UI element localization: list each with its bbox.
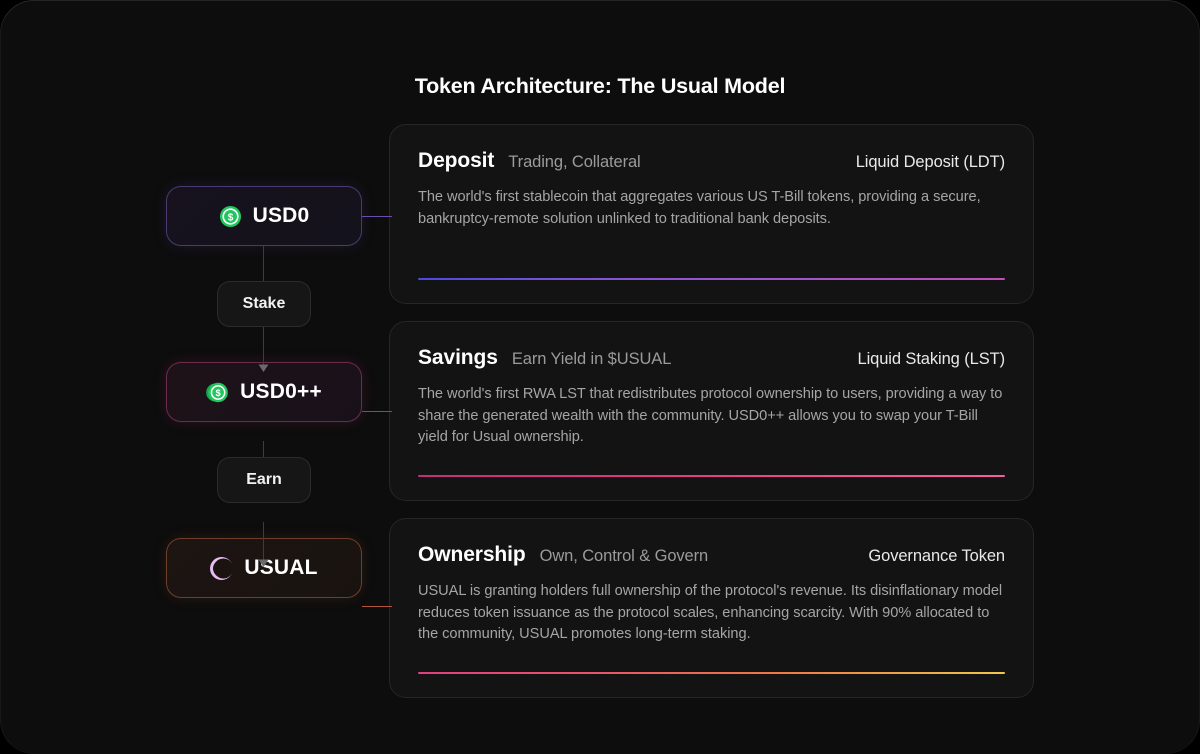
card-tag: Liquid Staking (LST) [858, 350, 1006, 369]
dollar-coin-icon: $ [219, 205, 242, 228]
usual-ring-icon [210, 557, 233, 580]
token-node-usd0[interactable]: $ USD0 [166, 186, 362, 246]
card-accent-bar [418, 475, 1005, 477]
token-node-label: USD0 [253, 204, 310, 228]
connector-usual-ownership-card [362, 606, 392, 607]
arrow-down-icon-2 [258, 559, 269, 567]
card-body: The world's first RWA LST that redistrib… [390, 370, 1033, 449]
card-header: Ownership Own, Control & Govern Governan… [390, 519, 1033, 567]
card-savings[interactable]: Savings Earn Yield in $USUAL Liquid Stak… [389, 321, 1034, 501]
connector-usd0-stake [263, 246, 264, 284]
flow-step-stake[interactable]: Stake [217, 281, 311, 327]
connector-usd0pp-savings-card [362, 411, 392, 412]
connector-earn-usual [263, 522, 264, 560]
card-tag: Governance Token [868, 547, 1005, 566]
connector-usd0-deposit-card [362, 216, 392, 217]
card-deposit[interactable]: Deposit Trading, Collateral Liquid Depos… [389, 124, 1034, 304]
page-title: Token Architecture: The Usual Model [0, 74, 1200, 99]
card-header: Savings Earn Yield in $USUAL Liquid Stak… [390, 322, 1033, 370]
token-node-label: USD0++ [240, 380, 322, 404]
card-accent-bar [418, 672, 1005, 674]
svg-text:$: $ [227, 212, 233, 223]
connector-stake-usd0pp [263, 327, 264, 365]
diagram-frame: Token Architecture: The Usual Model $ US… [0, 0, 1200, 754]
card-subtitle: Earn Yield in $USUAL [512, 350, 671, 369]
card-title: Savings [418, 346, 498, 370]
stacked-dollar-coin-icon: $ [206, 381, 229, 404]
arrow-down-icon-1 [258, 364, 269, 372]
card-body: USUAL is granting holders full ownership… [390, 567, 1033, 646]
flow-step-label: Earn [246, 471, 282, 489]
token-node-usual[interactable]: USUAL [166, 538, 362, 598]
flow-step-earn[interactable]: Earn [217, 457, 311, 503]
svg-text:$: $ [216, 387, 222, 398]
card-subtitle: Own, Control & Govern [540, 547, 708, 566]
card-header: Deposit Trading, Collateral Liquid Depos… [390, 125, 1033, 173]
card-body: The world's first stablecoin that aggreg… [390, 173, 1033, 230]
token-node-label: USUAL [244, 556, 317, 580]
card-subtitle: Trading, Collateral [508, 153, 640, 172]
token-flow-column: $ USD0 Stake $ USD0++ [166, 186, 362, 598]
flow-step-label: Stake [243, 295, 286, 313]
card-title: Ownership [418, 543, 526, 567]
card-tag: Liquid Deposit (LDT) [856, 153, 1005, 172]
card-ownership[interactable]: Ownership Own, Control & Govern Governan… [389, 518, 1034, 698]
card-title: Deposit [418, 149, 494, 173]
card-accent-bar [418, 278, 1005, 280]
